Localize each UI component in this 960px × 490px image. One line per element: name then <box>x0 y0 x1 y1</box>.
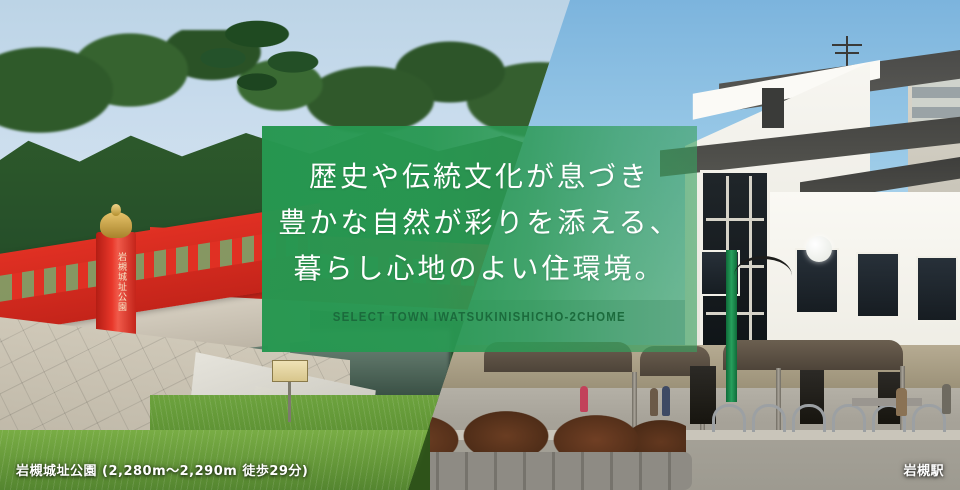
headline-copy: 歴史や伝統文化が息づき 豊かな自然が彩りを添える、 暮らし心地のよい住環境。 <box>278 154 680 292</box>
subtitle-copy: SELECT TOWN IWATSUKINISHICHO-2CHOME <box>333 310 626 324</box>
caption-right: 岩槻駅 <box>903 460 944 479</box>
bicycle-rack <box>832 404 866 432</box>
message-overlay-panel: 歴史や伝統文化が息づき 豊かな自然が彩りを添える、 暮らし心地のよい住環境。 S… <box>262 126 697 352</box>
bicycle-rack <box>712 404 746 432</box>
bicycle-rack <box>912 404 946 432</box>
headline-line-3: 暮らし心地のよい住環境。 <box>278 246 680 292</box>
gable-vent <box>762 88 784 128</box>
bicycle-rack <box>752 404 786 432</box>
park-notice-sign <box>272 360 308 382</box>
pine-tree <box>195 18 325 128</box>
headline-line-1: 歴史や伝統文化が息づき <box>278 154 680 200</box>
station-window <box>916 256 958 322</box>
headline-line-2: 豊かな自然が彩りを添える、 <box>278 200 680 246</box>
sign-post <box>288 382 291 422</box>
hero-banner: 岩槻城址公園 歴史や伝統文化が息づき 豊かな自然が彩りを添える、 暮らし心地のよ… <box>0 0 960 490</box>
caption-left: 岩槻城址公園 (2,280m〜2,290m 徒歩29分) <box>16 460 308 479</box>
bridge-pillar-giboshi-cap <box>100 212 132 238</box>
station-window <box>856 252 900 318</box>
plaza-bench <box>852 398 922 406</box>
pedestrian <box>942 384 951 414</box>
bridge-pillar-label: 岩槻城址公園 <box>104 252 128 312</box>
station-awning <box>723 340 903 370</box>
bicycle-rack <box>792 404 826 432</box>
pedestrian <box>896 388 907 416</box>
street-lamp-globe-icon <box>806 236 832 262</box>
